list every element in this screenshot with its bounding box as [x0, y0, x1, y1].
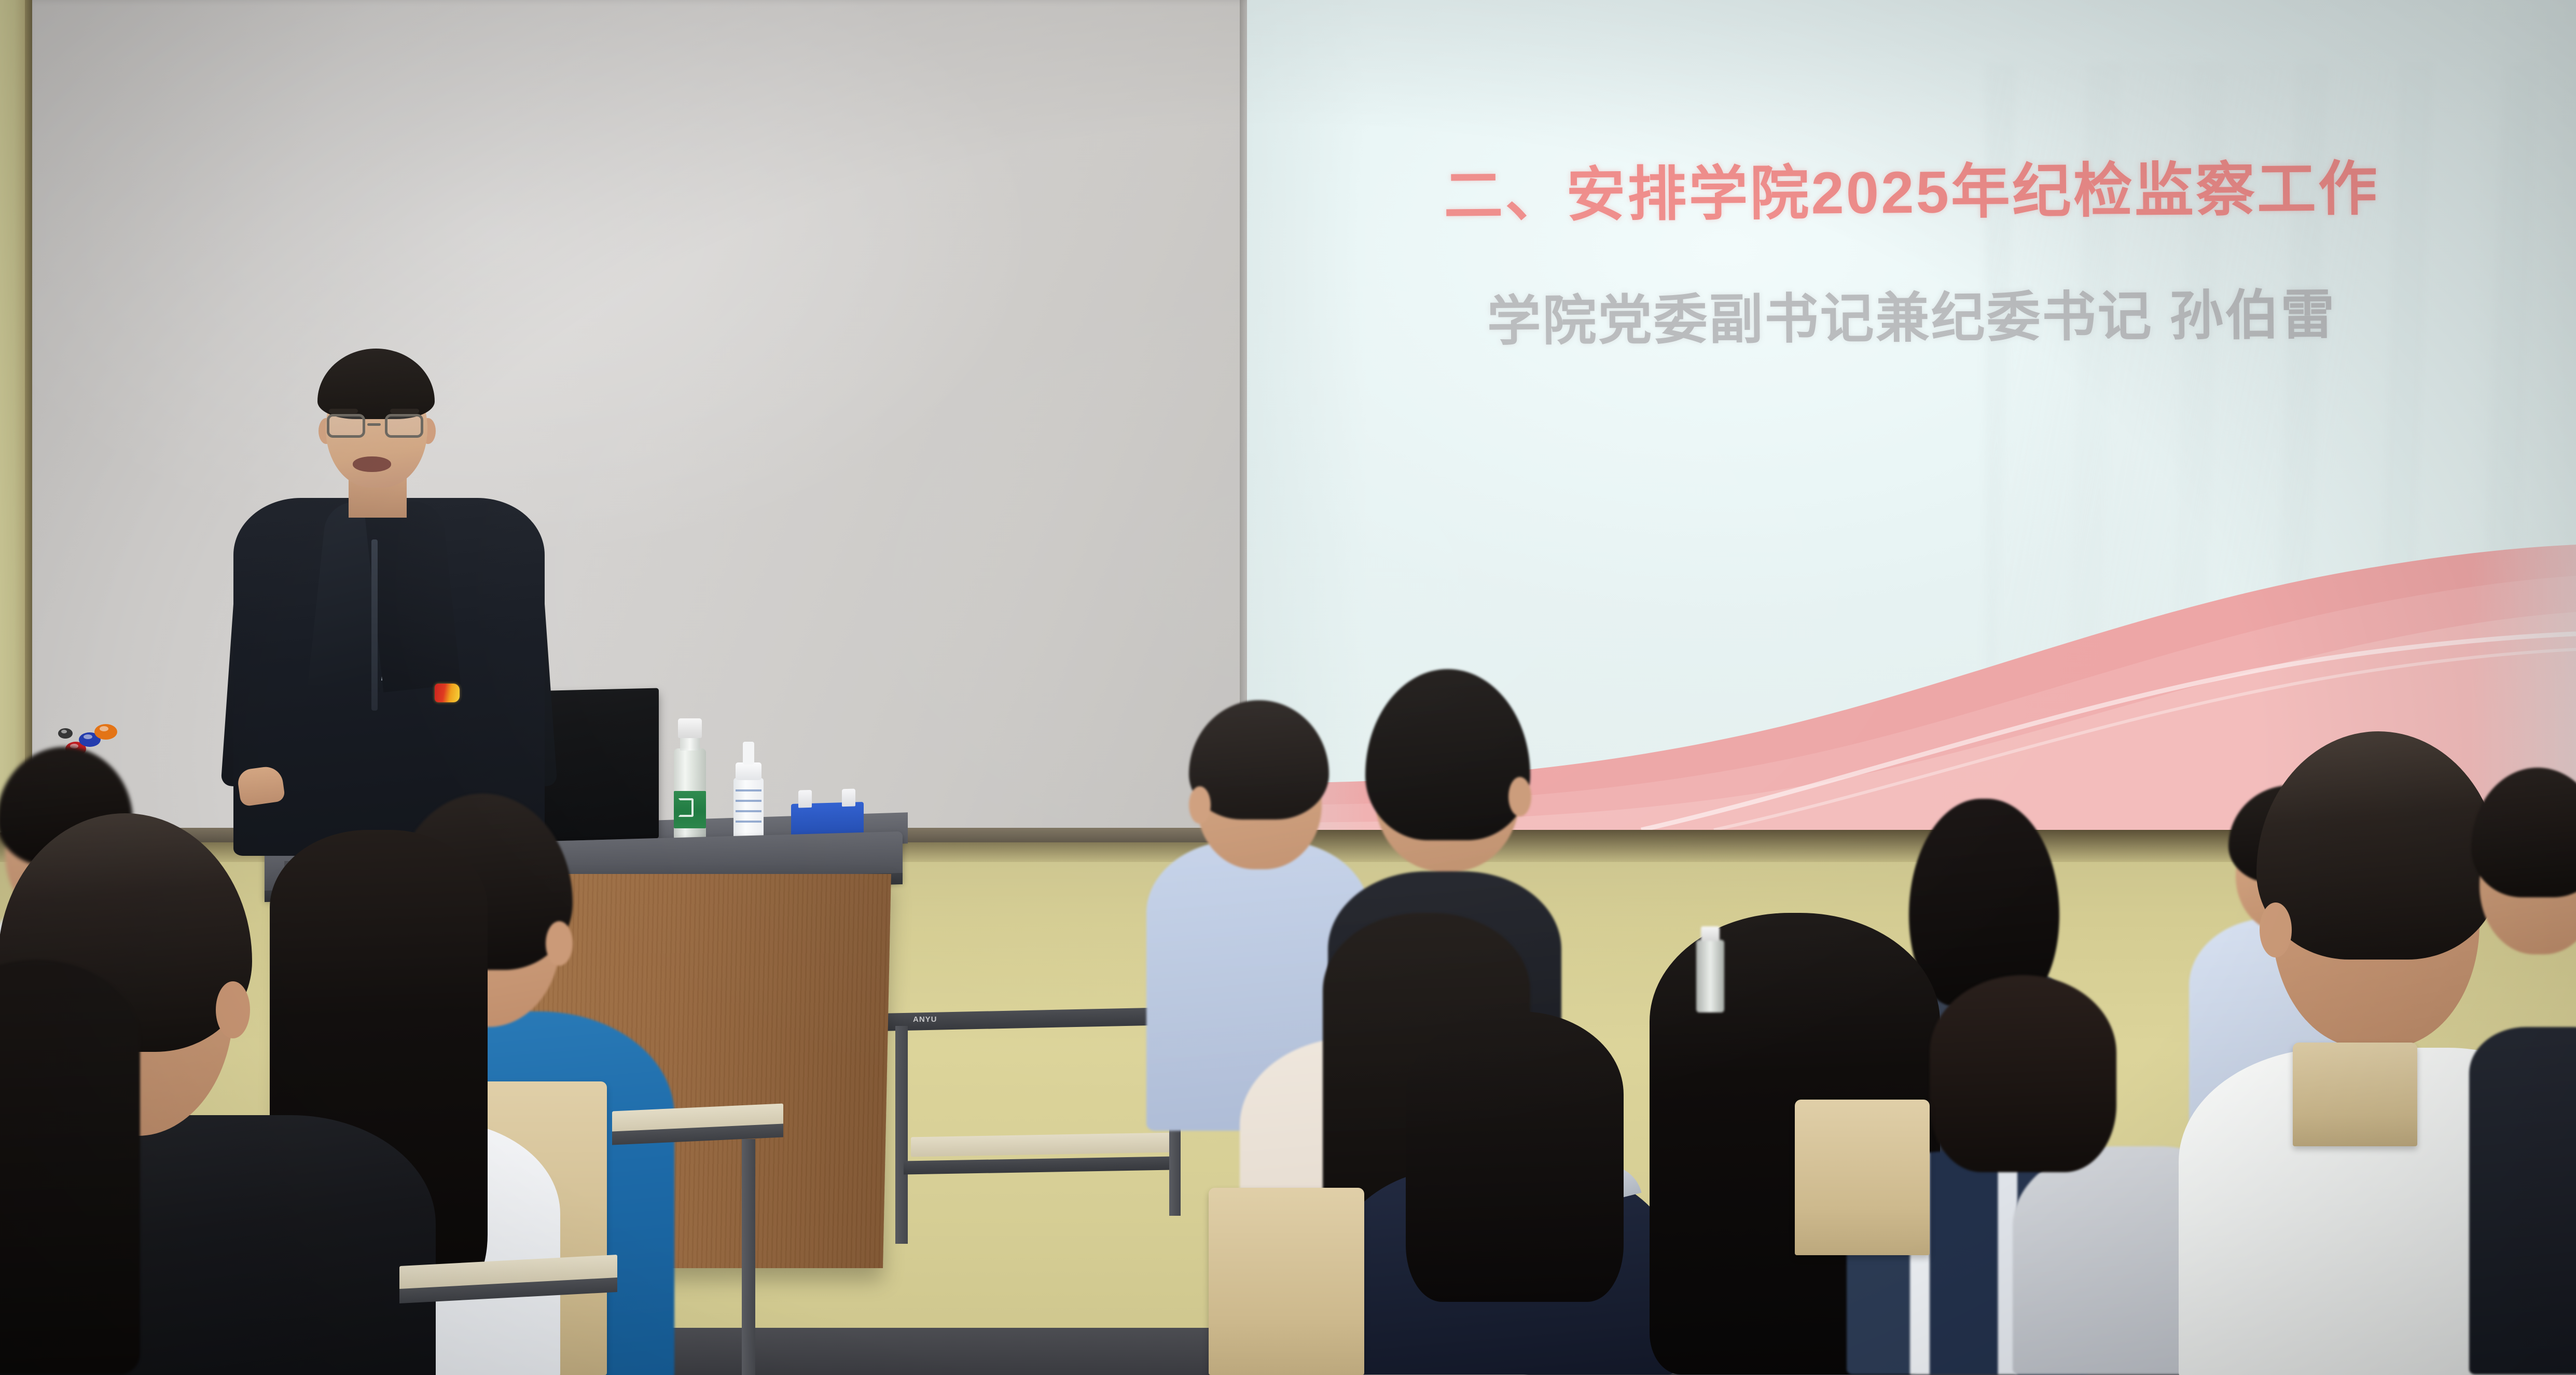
audience-water-bottle — [1696, 940, 1724, 1012]
spray-bottle-collar — [736, 762, 761, 780]
ear-left — [1189, 786, 1211, 824]
spray-bottle-nozzle — [743, 742, 754, 765]
speaker-brow-left — [329, 409, 358, 413]
hair — [2256, 731, 2500, 960]
hair — [1365, 669, 1530, 840]
glasses-bridge-icon — [367, 423, 381, 426]
water-bottle-neck — [680, 737, 700, 751]
speaker-brow-right — [390, 409, 419, 413]
spray-bottle — [731, 742, 766, 843]
magnet-black-icon — [58, 728, 73, 739]
hair — [0, 960, 140, 1374]
glasses-lens-right-icon — [385, 414, 423, 438]
hair — [1930, 975, 2116, 1172]
party-emblem-pin-icon — [435, 684, 460, 702]
attendee-right-hair-bun — [1909, 975, 2137, 1266]
lecture-hall-scene: 二、安排学院2025年纪检监察工作 学院党委副书记兼纪委书记 孙伯雷 ANYU — [0, 0, 2576, 1375]
marker-left-icon — [798, 790, 812, 808]
chair-back-right-1 — [1209, 1188, 1364, 1375]
desk-brand-label: ANYU — [913, 1015, 937, 1024]
attendee-foreground-left-edge — [0, 960, 150, 1375]
ear-right — [1508, 777, 1531, 816]
speaker-presenter — [202, 327, 576, 851]
spray-bottle-body — [733, 778, 764, 843]
back-desk-leg-left — [895, 1026, 908, 1244]
speaker-mouth — [353, 456, 391, 472]
hair — [2471, 768, 2576, 897]
speaker-jacket-zipper — [371, 539, 378, 711]
attendee-far-right-edge — [2469, 737, 2576, 1375]
water-bottle-cap — [678, 718, 702, 738]
ear-left — [2260, 902, 2292, 957]
audience-water-bottle-cap — [1701, 926, 1720, 941]
chair-back-right-3 — [2293, 1043, 2417, 1146]
chair-back-right-2 — [1795, 1100, 1930, 1255]
glasses-lens-left-icon — [327, 414, 365, 438]
front-desk-leg-left — [742, 1139, 755, 1375]
magnet-orange-icon — [94, 724, 117, 740]
hair — [1406, 1011, 1624, 1302]
marker-right-icon — [842, 788, 855, 807]
ear-right — [216, 981, 250, 1038]
torso — [2469, 1027, 2576, 1374]
